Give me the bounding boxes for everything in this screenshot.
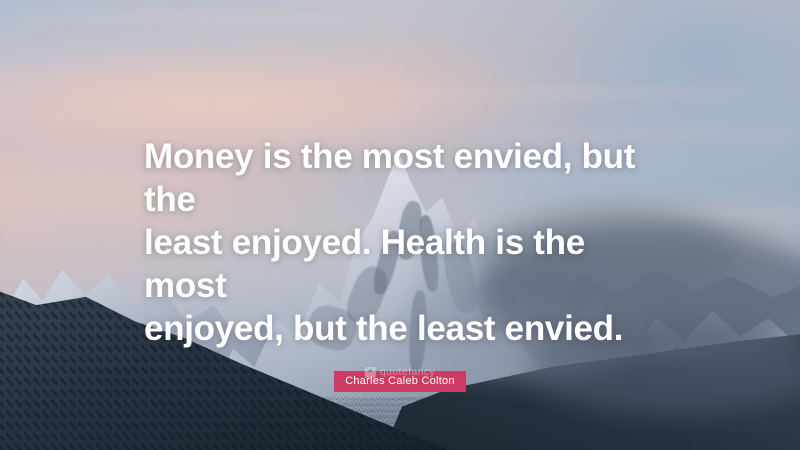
quote-overlay: Money is the most envied, but the least … xyxy=(0,0,800,450)
quote-wallpaper: Money is the most envied, but the least … xyxy=(0,0,800,450)
quote-text: Money is the most envied, but the least … xyxy=(144,135,656,350)
quote-line-3: enjoyed, but the least envied. xyxy=(144,307,656,350)
watermark-brand-label: quotefancy xyxy=(380,366,435,378)
quotefancy-watermark[interactable]: ❝ quotefancy xyxy=(365,366,435,378)
quote-line-1: Money is the most envied, but the xyxy=(144,135,656,221)
quote-mark-icon: ❝ xyxy=(365,367,376,378)
quote-line-2: least enjoyed. Health is the most xyxy=(144,221,656,307)
